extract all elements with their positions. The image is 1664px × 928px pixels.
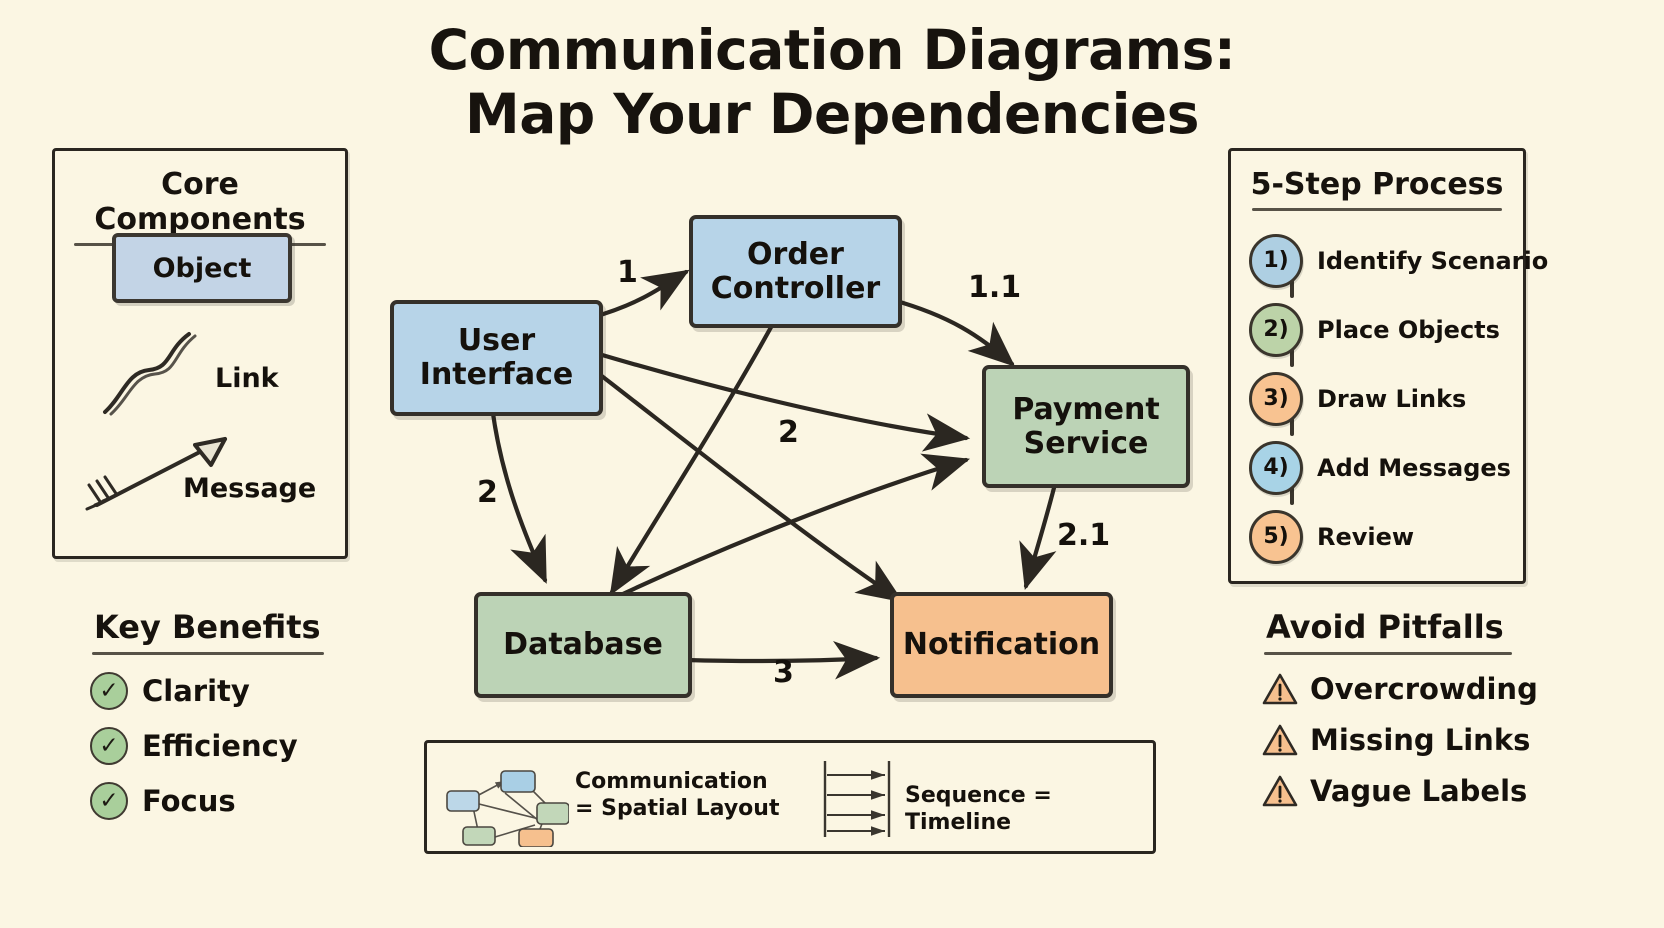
step-number-badge: 2) xyxy=(1249,303,1303,357)
edge-order-controller-to-database xyxy=(612,320,775,592)
edge-label-3: 3 xyxy=(773,655,794,690)
mini-sequence-ladder-icon xyxy=(815,757,911,841)
step-number-badge: 4) xyxy=(1249,441,1303,495)
edge-ui-to-notification xyxy=(594,370,900,600)
step-number-badge: 5) xyxy=(1249,510,1303,564)
node-label-line2: Service xyxy=(1024,426,1149,461)
node-label-line1: User xyxy=(458,323,535,358)
node-label-line1: Payment xyxy=(1012,392,1159,427)
mini-communication-graph-icon xyxy=(439,759,569,847)
edge-database-to-payment xyxy=(610,460,966,600)
legend-communication-line2: = Spatial Layout xyxy=(575,796,779,821)
infographic-canvas: Communication Diagrams: Map Your Depende… xyxy=(0,0,1664,928)
edge-ui-to-order-controller xyxy=(590,272,686,318)
edge-order-controller-to-payment xyxy=(893,300,1012,364)
edge-ui-to-database xyxy=(492,406,545,580)
node-order-controller[interactable]: Order Controller xyxy=(689,215,902,328)
node-label: Notification xyxy=(903,628,1100,662)
node-label: Database xyxy=(503,628,663,662)
legend-sequence-caption: Sequence = Timeline xyxy=(905,783,1153,837)
edge-label-2-payment: 2 xyxy=(778,415,799,450)
node-label-line1: Order xyxy=(747,237,844,272)
node-notification[interactable]: Notification xyxy=(890,592,1113,698)
node-payment-service[interactable]: Payment Service xyxy=(982,365,1190,488)
node-label-line2: Controller xyxy=(711,271,880,306)
edge-payment-to-notification xyxy=(1026,480,1056,586)
bottom-legend-bar: Communication = Spatial Layout Sequence … xyxy=(424,740,1156,854)
node-user-interface[interactable]: User Interface xyxy=(390,300,603,416)
edge-label-2-database: 2 xyxy=(477,475,498,510)
step-number-badge: 1) xyxy=(1249,234,1303,288)
edge-label-1-1: 1.1 xyxy=(968,270,1021,305)
edge-label-1: 1 xyxy=(617,255,638,290)
legend-communication-caption: Communication = Spatial Layout xyxy=(575,769,779,823)
legend-communication-line1: Communication xyxy=(575,769,768,794)
edge-label-2-1: 2.1 xyxy=(1057,518,1110,553)
node-database[interactable]: Database xyxy=(474,592,692,698)
node-label-line2: Interface xyxy=(420,357,573,392)
step-number-badge: 3) xyxy=(1249,372,1303,426)
